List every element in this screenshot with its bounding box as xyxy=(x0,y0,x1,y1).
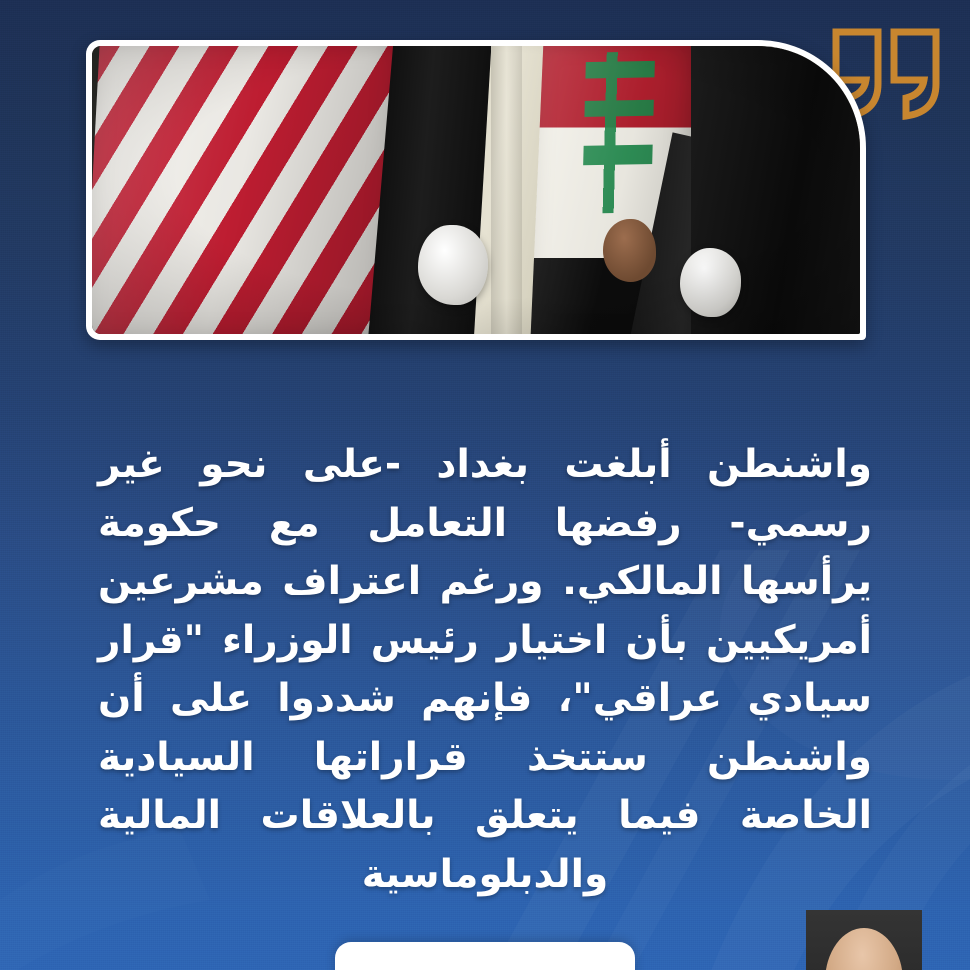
quote-card: واشنطن أبلغت بغداد -على نحو غير رسمي- رف… xyxy=(0,0,970,970)
photo-vignette xyxy=(92,46,860,334)
quote-text: واشنطن أبلغت بغداد -على نحو غير رسمي- رف… xyxy=(98,436,872,904)
bottom-white-card xyxy=(335,942,635,970)
hero-photo-frame xyxy=(86,40,866,340)
speaker-avatar xyxy=(806,910,922,970)
handshake-flags-photo xyxy=(92,46,860,334)
